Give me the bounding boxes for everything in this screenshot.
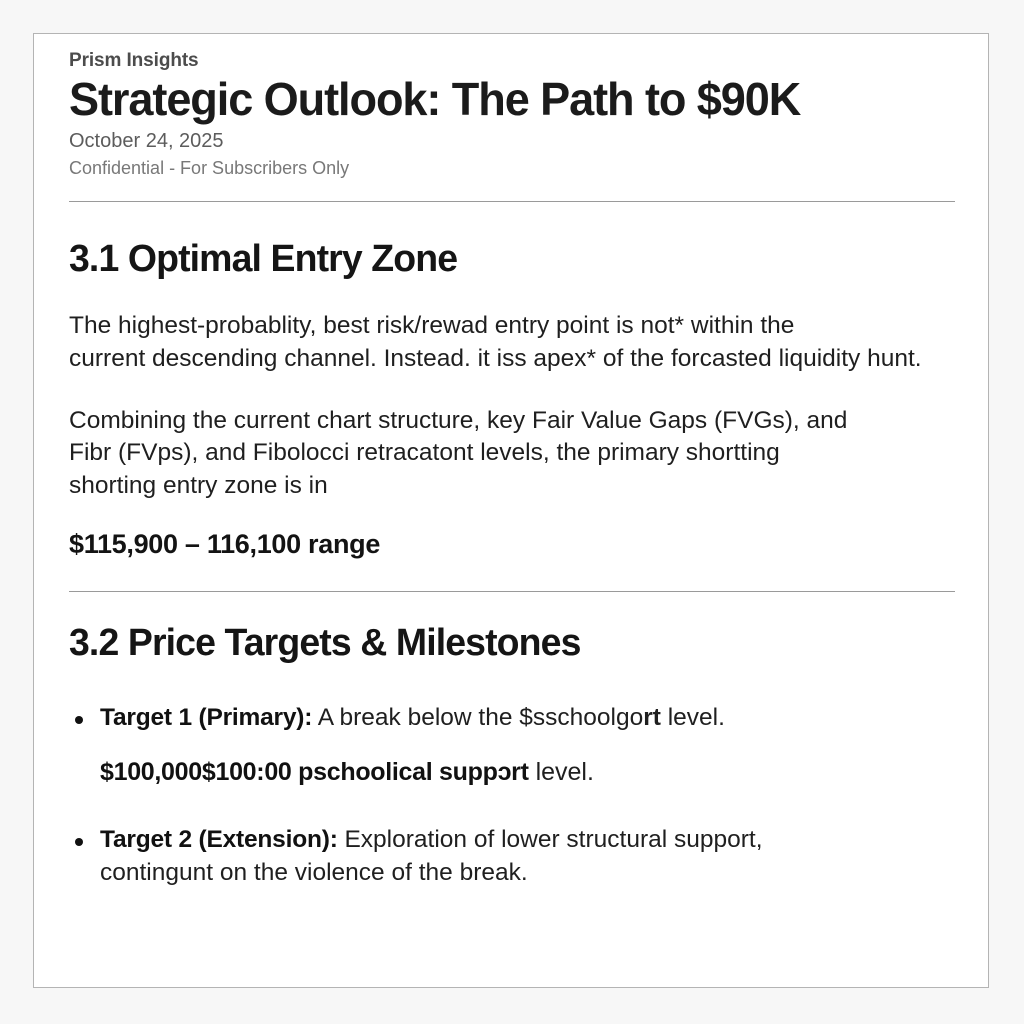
target-1-label: Target 1 (Primary):	[100, 704, 312, 731]
list-item: Target 2 (Extension): Exploration of low…	[69, 824, 954, 890]
target-2-body-a: Exploration of lower structural support,	[338, 826, 763, 853]
target-1-price-line: $100,000$100:00 pschoolical suppɔrt leve…	[100, 756, 954, 789]
section-3-1-paragraph-2: Combining the current chart structure, k…	[69, 405, 954, 503]
header-divider	[69, 201, 955, 202]
paragraph-line: current descending channel. Instead. it …	[69, 345, 922, 372]
price-targets-list: Target 1 (Primary): A break below the $s…	[69, 702, 954, 890]
paragraph-line: The highest-probablity, best risk/rewad …	[69, 312, 794, 339]
target-2-line: Target 2 (Extension): Exploration of low…	[100, 824, 954, 857]
list-item: Target 1 (Primary): A break below the $s…	[69, 702, 954, 789]
document-date: October 24, 2025	[69, 127, 954, 155]
target-1-price-value: $100,000$100:00 pschoolical suppɔrt	[100, 758, 529, 786]
target-2-label: Target 2 (Extension):	[100, 826, 338, 853]
section-3-1-paragraph-1: The highest-probablity, best risk/rewad …	[69, 310, 954, 375]
brand-label: Prism Insights	[69, 48, 954, 74]
target-1-body-b: rt	[643, 704, 661, 731]
section-divider	[69, 591, 955, 592]
paragraph-line: Fibr (FVps), and Fibolocci retracatont l…	[69, 439, 780, 466]
report-card: Prism Insights Strategic Outlook: The Pa…	[33, 33, 989, 988]
target-1-line: Target 1 (Primary): A break below the $s…	[100, 702, 954, 735]
target-1-price-tail: level.	[529, 758, 594, 786]
paragraph-line: Combining the current chart structure, k…	[69, 407, 847, 434]
paragraph-line: shorting entry zone is in	[69, 472, 328, 499]
confidentiality-notice: Confidential - For Subscribers Only	[69, 156, 954, 181]
target-1-body-c: level.	[661, 704, 725, 731]
section-heading-3-1: 3.1 Optimal Entry Zone	[69, 239, 941, 281]
target-2-line-2: contingunt on the violence of the break.	[100, 857, 954, 890]
page-title: Strategic Outlook: The Path to $90K	[69, 76, 936, 124]
section-heading-3-2: 3.2 Price Targets & Milestones	[69, 623, 941, 665]
report-content: Prism Insights Strategic Outlook: The Pa…	[34, 34, 988, 890]
target-1-body-a: A break below the $sschoolgo	[312, 704, 643, 731]
entry-zone-range: $115,900 – 116,100 range	[69, 528, 954, 560]
